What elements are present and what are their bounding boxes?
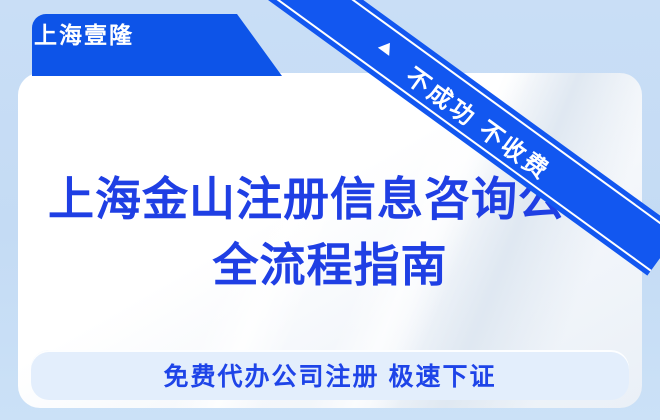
brand-tab-label: 上海壹隆	[34, 16, 134, 50]
cta-pill[interactable]: 免费代办公司注册 极速下证	[31, 350, 629, 400]
cta-pill-label: 免费代办公司注册 极速下证	[164, 357, 497, 393]
title-line-2: 全流程指南	[18, 232, 642, 298]
content-card: 上海金山注册信息咨询公司 全流程指南 免费代办公司注册 极速下证	[18, 73, 642, 408]
promo-banner: 上海壹隆 上海金山注册信息咨询公司 全流程指南 免费代办公司注册 极速下证 不成…	[0, 0, 660, 420]
